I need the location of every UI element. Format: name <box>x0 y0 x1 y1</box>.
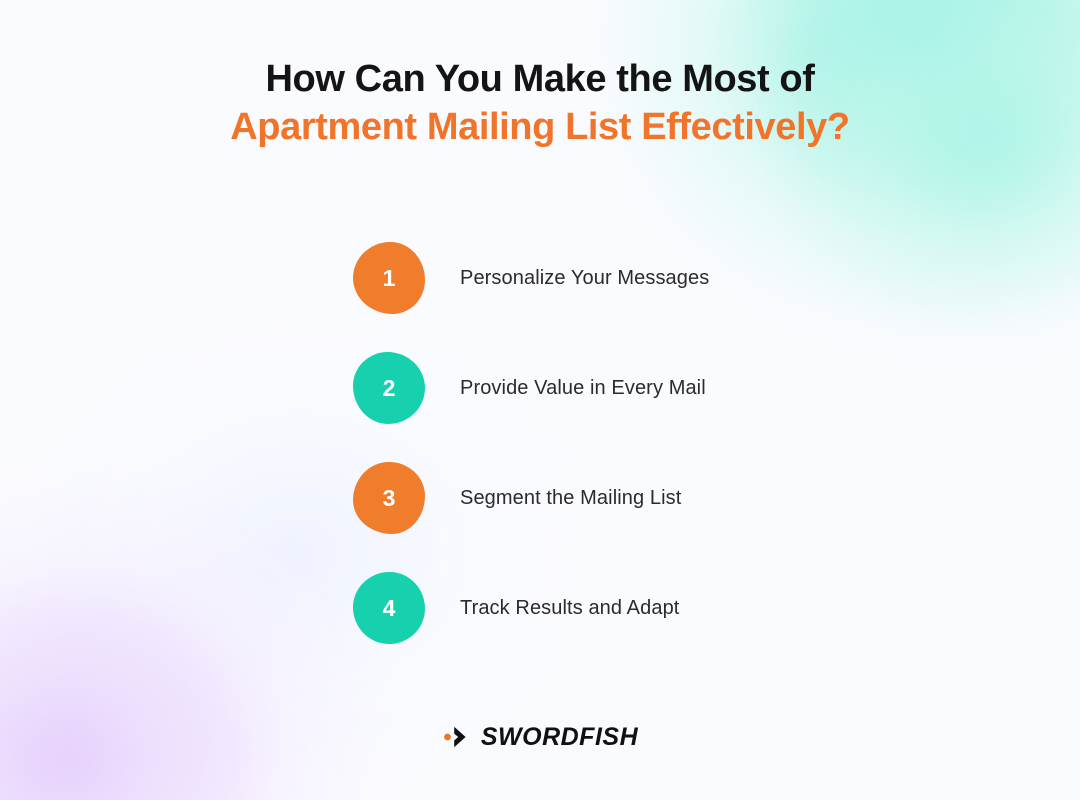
swordfish-chevron-icon <box>442 722 472 752</box>
title-line-highlight: Apartment Mailing List Effectively? <box>0 103 1080 151</box>
list-item: 4 Track Results and Adapt <box>353 572 709 644</box>
list-item: 3 Segment the Mailing List <box>353 462 709 534</box>
infographic-content: How Can You Make the Most of Apartment M… <box>0 0 1080 800</box>
step-number-badge-1: 1 <box>353 242 425 314</box>
steps-list: 1 Personalize Your Messages 2 Provide Va… <box>353 242 709 682</box>
title-line-primary: How Can You Make the Most of <box>0 55 1080 103</box>
step-label-3: Segment the Mailing List <box>460 487 681 510</box>
brand-logo: SWORDFISH <box>0 722 1080 752</box>
brand-logo-text: SWORDFISH <box>481 723 638 752</box>
step-number-badge-3: 3 <box>353 462 425 534</box>
list-item: 2 Provide Value in Every Mail <box>353 352 709 424</box>
page-title: How Can You Make the Most of Apartment M… <box>0 55 1080 151</box>
step-number-badge-4: 4 <box>353 572 425 644</box>
step-label-1: Personalize Your Messages <box>460 267 709 290</box>
step-number-badge-2: 2 <box>353 352 425 424</box>
step-label-2: Provide Value in Every Mail <box>460 377 706 400</box>
step-label-4: Track Results and Adapt <box>460 597 679 620</box>
list-item: 1 Personalize Your Messages <box>353 242 709 314</box>
